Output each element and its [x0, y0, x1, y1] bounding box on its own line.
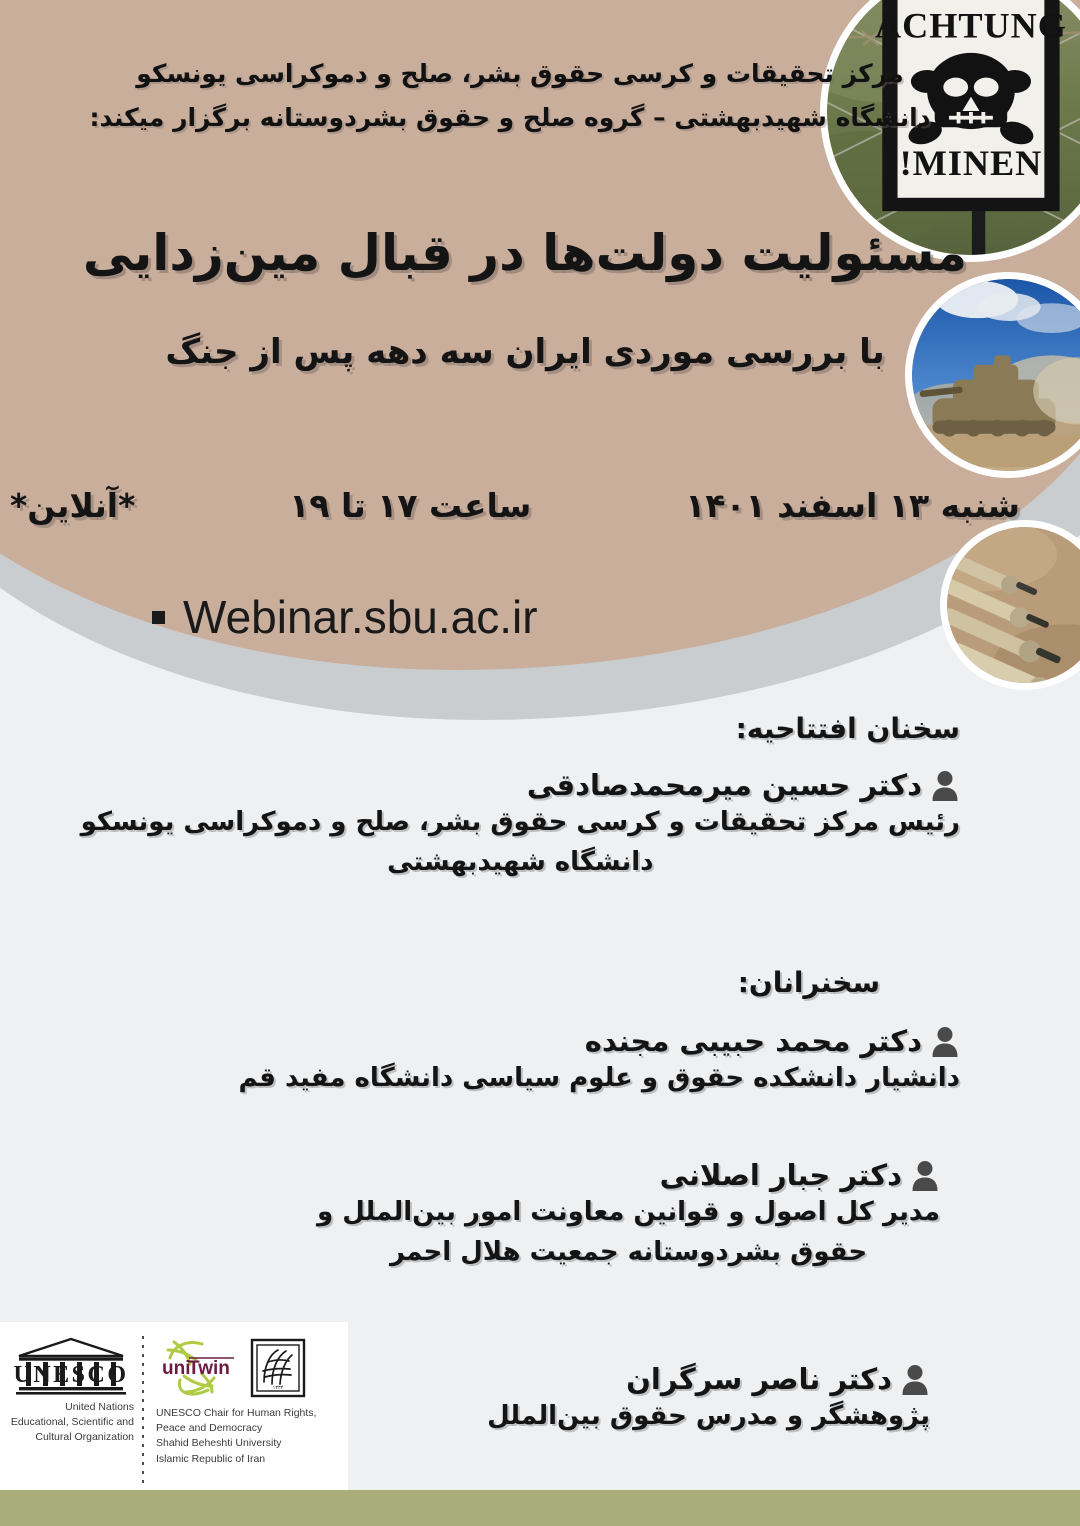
person-icon — [910, 1159, 940, 1191]
speaker-3-name-row: دکتر ناصر سرگران — [487, 1362, 930, 1396]
speaker-1-name: دکتر محمد حبیبی مجنده — [585, 1024, 922, 1058]
unesco-logo-column: UNESCO United Nations Educational, Scien… — [0, 1332, 140, 1446]
chair-caption-line-3: Shahid Beheshti University — [156, 1436, 316, 1451]
event-mode: *آنلاین* — [10, 486, 135, 525]
opening-person-affiliation-1: رئیس مرکز تحقیقات و کرسی حقوق بشر، صلح و… — [81, 802, 960, 842]
person-icon — [900, 1363, 930, 1395]
speaker-1-name-row: دکتر محمد حبیبی مجنده — [239, 1024, 960, 1058]
person-icon — [930, 769, 960, 801]
svg-text:MINEN!: MINEN! — [900, 143, 1043, 183]
speakers-heading-block: سخنرانان: — [738, 966, 880, 999]
speaker-2-affiliation-2: حقوق بشردوستانه جمعیت هلال احمر — [317, 1232, 940, 1272]
webinar-url-row[interactable]: Webinar.sbu.ac.ir — [0, 590, 1080, 644]
organizer-line-1: مرکز تحقیقات و کرسی حقوق بشر، صلح و دموک… — [0, 52, 1040, 96]
unesco-caption-line-3: Cultural Organization — [8, 1430, 134, 1445]
svg-text:UNESCO: UNESCO — [13, 1362, 128, 1388]
chair-logo-column: uni Twin ۱۳۳۴ — [146, 1332, 346, 1467]
svg-text:ACHTUNG: ACHTUNG — [875, 6, 1067, 46]
unesco-caption-line-1: United Nations — [8, 1400, 134, 1415]
chair-caption: UNESCO Chair for Human Rights, Peace and… — [156, 1406, 316, 1467]
speaker-3-affiliation-1: پژوهشگر و مدرس حقوق بین‌الملل — [487, 1396, 930, 1436]
speaker-block-1: دکتر محمد حبیبی مجنده دانشیار دانشکده حق… — [239, 1024, 960, 1098]
speaker-1-affiliation-1: دانشیار دانشکده حقوق و علوم سیاسی دانشگا… — [239, 1058, 960, 1098]
organizer-block: مرکز تحقیقات و کرسی حقوق بشر، صلح و دموک… — [0, 52, 1040, 140]
event-datetime-row: شنبه ۱۳ اسفند ۱۴۰۱ ساعت ۱۷ تا ۱۹ *آنلاین… — [10, 486, 1020, 525]
webinar-poster: ACHTUNG — [0, 0, 1080, 1526]
speaker-block-3: دکتر ناصر سرگران پژوهشگر و مدرس حقوق بین… — [487, 1362, 930, 1436]
person-icon — [930, 1025, 960, 1057]
svg-text:uni: uni — [162, 1358, 191, 1379]
chair-caption-line-1: UNESCO Chair for Human Rights, — [156, 1406, 316, 1421]
logo-panel: UNESCO United Nations Educational, Scien… — [0, 1322, 348, 1490]
logo-divider — [142, 1336, 144, 1484]
shahid-beheshti-university-seal-icon: ۱۳۳۴ — [250, 1338, 306, 1398]
bottom-green-bar — [0, 1490, 1080, 1526]
event-time: ساعت ۱۷ تا ۱۹ — [289, 486, 531, 525]
opening-person-name-row: دکتر حسین میرمحمدصادقی — [81, 768, 960, 802]
unesco-logo-icon: UNESCO — [11, 1336, 131, 1400]
opening-heading: سخنان افتتاحیه: — [736, 712, 960, 745]
speaker-2-name-row: دکتر جبار اصلانی — [317, 1158, 940, 1192]
chair-logo-marks: uni Twin ۱۳۳۴ — [156, 1336, 306, 1400]
speaker-2-affiliation-1: مدیر کل اصول و قوانین معاونت امور بین‌ال… — [317, 1192, 940, 1232]
unitwin-logo-icon: uni Twin — [156, 1336, 242, 1400]
opening-person-block: دکتر حسین میرمحمدصادقی رئیس مرکز تحقیقات… — [81, 768, 960, 883]
organizer-line-2: دانشگاه شهیدبهشتی – گروه صلح و حقوق بشرد… — [0, 96, 1040, 140]
square-bullet-icon — [152, 611, 165, 624]
svg-text:۱۳۳۴: ۱۳۳۴ — [273, 1385, 284, 1391]
opening-person-affiliation-2: دانشگاه شهیدبهشتی — [81, 842, 960, 882]
event-date: شنبه ۱۳ اسفند ۱۴۰۱ — [685, 486, 1020, 525]
unesco-caption-line-2: Educational, Scientific and — [8, 1415, 134, 1430]
chair-caption-line-4: Islamic Republic of Iran — [156, 1452, 316, 1467]
poster-main-title: مسئولیت دولت‌ها در قبال مین‌زدایی — [0, 222, 1050, 285]
unesco-caption: United Nations Educational, Scientific a… — [8, 1400, 134, 1446]
opening-person-name: دکتر حسین میرمحمدصادقی — [527, 768, 922, 802]
webinar-url[interactable]: Webinar.sbu.ac.ir — [183, 590, 538, 644]
chair-caption-line-2: Peace and Democracy — [156, 1421, 316, 1436]
speaker-3-name: دکتر ناصر سرگران — [626, 1362, 892, 1396]
svg-text:Twin: Twin — [188, 1358, 230, 1379]
speakers-heading: سخنرانان: — [738, 966, 880, 999]
opening-heading-block: سخنان افتتاحیه: — [736, 712, 960, 745]
poster-sub-title: با بررسی موردی ایران سه دهه پس از جنگ — [0, 330, 1050, 374]
speaker-2-name: دکتر جبار اصلانی — [660, 1158, 902, 1192]
speaker-block-2: دکتر جبار اصلانی مدیر کل اصول و قوانین م… — [317, 1158, 940, 1273]
